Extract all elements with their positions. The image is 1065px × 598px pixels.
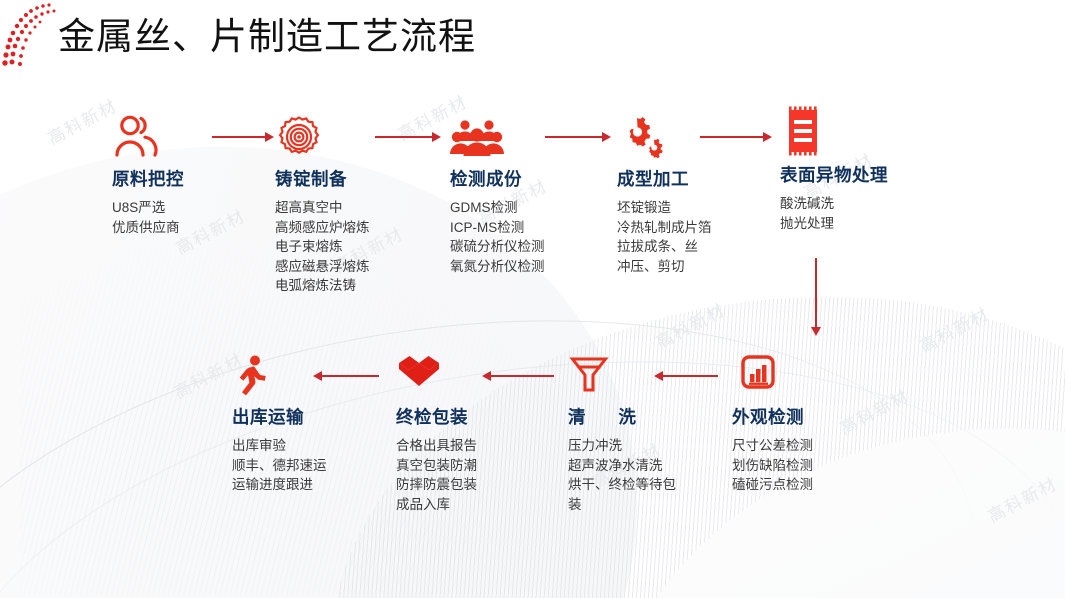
step-appearance-inspection[interactable]: 外观检测 尺寸公差检测 划伤缺陷检测 磕碰污点检测 <box>732 350 813 495</box>
arrow-step1-to-step2 <box>212 131 274 143</box>
step-detail-lines: U8S严选 优质供应商 <box>112 198 184 237</box>
arrow-step5-to-step6 <box>810 258 822 336</box>
step-composition-inspection[interactable]: 检测成份 GDMS检测 ICP-MS检测 碳硫分析仪检测 氧氮分析仪检测 <box>450 112 545 276</box>
background-arc-2 <box>0 286 1065 598</box>
step-detail-line: 电子束熔炼 <box>275 237 370 257</box>
arrow-step3-to-step4 <box>545 131 611 143</box>
step-title: 成型加工 <box>617 166 712 191</box>
step-detail-line: 顺丰、德邦速运 <box>232 456 327 476</box>
step-detail-lines: GDMS检测 ICP-MS检测 碳硫分析仪检测 氧氮分析仪检测 <box>450 198 545 276</box>
watermark: 高科新材 <box>835 382 914 440</box>
step-detail-lines: 压力冲洗 超声波净水清洗 烘干、终检等待包装 <box>568 436 676 514</box>
arrow-step7-to-step8 <box>482 370 554 382</box>
slide-canvas: 高科新材 高科新材 高科新材 高科新材 高科新材 高科新材 高科新材 高科新材 … <box>0 0 1065 598</box>
step-forming-processing[interactable]: 成型加工 坯锭锻造 冷热轧制成片箔 拉拔成条、丝 冲压、剪切 <box>617 112 712 276</box>
document-lines-icon <box>780 108 888 156</box>
step-detail-line: 电弧熔炼法铸 <box>275 276 370 296</box>
step-detail-lines: 尺寸公差检测 划伤缺陷检测 磕碰污点检测 <box>732 436 813 495</box>
arrow-step4-to-step5 <box>700 131 772 143</box>
watermark: 高科新材 <box>43 92 122 150</box>
step-detail-lines: 超高真空中 高频感应炉熔炼 电子束熔炼 感应磁悬浮熔炼 电弧熔炼法铸 <box>275 198 370 296</box>
running-person-icon <box>232 350 327 398</box>
step-title: 检测成份 <box>450 166 545 191</box>
step-detail-line: 压力冲洗 <box>568 436 676 456</box>
step-ingot-preparation[interactable]: 铸锭制备 超高真空中 高频感应炉熔炼 电子束熔炼 感应磁悬浮熔炼 电弧熔炼法铸 <box>275 112 370 296</box>
double-gear-icon <box>617 112 712 160</box>
step-raw-material-control[interactable]: 原料把控 U8S严选 优质供应商 <box>112 112 184 237</box>
step-detail-line: 尺寸公差检测 <box>732 436 813 456</box>
step-title: 表面异物处理 <box>780 162 888 187</box>
step-detail-line: 真空包装防潮 <box>396 456 477 476</box>
step-detail-lines: 合格出具报告 真空包装防潮 防摔防震包装 成品入库 <box>396 436 477 514</box>
funnel-icon <box>568 350 676 398</box>
step-detail-line: 氧氮分析仪检测 <box>450 257 545 277</box>
step-detail-line: 超高真空中 <box>275 198 370 218</box>
step-detail-line: 防摔防震包装 <box>396 475 477 495</box>
decorative-dot-arc-icon <box>2 2 64 66</box>
step-detail-line: 酸洗碱洗 <box>780 194 888 214</box>
step-detail-line: 坯锭锻造 <box>617 198 712 218</box>
background-decoration: 高科新材 高科新材 高科新材 高科新材 高科新材 高科新材 高科新材 高科新材 … <box>0 0 1065 598</box>
step-detail-line: 合格出具报告 <box>396 436 477 456</box>
step-detail-line: ICP-MS检测 <box>450 218 545 238</box>
two-people-icon <box>112 112 184 160</box>
step-detail-line: 磕碰污点检测 <box>732 475 813 495</box>
step-title: 外观检测 <box>732 404 813 429</box>
step-detail-lines: 出库审验 顺丰、德邦速运 运输进度跟进 <box>232 436 327 495</box>
watermark: 高科新材 <box>651 296 730 354</box>
step-surface-foreign-matter-treatment[interactable]: 表面异物处理 酸洗碱洗 抛光处理 <box>780 108 888 233</box>
step-final-inspection-packaging[interactable]: 终检包装 合格出具报告 真空包装防潮 防摔防震包装 成品入库 <box>396 350 477 514</box>
people-group-icon <box>450 112 545 160</box>
step-detail-line: 划伤缺陷检测 <box>732 456 813 476</box>
step-outbound-transport[interactable]: 出库运输 出库审验 顺丰、德邦速运 运输进度跟进 <box>232 350 327 495</box>
background-arc-1 <box>0 247 1017 598</box>
step-detail-line: 碳硫分析仪检测 <box>450 237 545 257</box>
step-detail-line: 出库审验 <box>232 436 327 456</box>
step-detail-line: U8S严选 <box>112 198 184 218</box>
step-detail-line: 冷热轧制成片箔 <box>617 218 712 238</box>
step-title: 出库运输 <box>232 404 327 429</box>
open-box-icon <box>396 350 477 398</box>
step-title: 终检包装 <box>396 404 477 429</box>
step-detail-lines: 坯锭锻造 冷热轧制成片箔 拉拔成条、丝 冲压、剪切 <box>617 198 712 276</box>
step-detail-lines: 酸洗碱洗 抛光处理 <box>780 194 888 233</box>
watermark: 高科新材 <box>915 300 994 358</box>
step-detail-line: 超声波净水清洗 <box>568 456 676 476</box>
arrow-step2-to-step3 <box>375 131 441 143</box>
page-title: 金属丝、片制造工艺流程 <box>58 6 476 60</box>
step-detail-line: 抛光处理 <box>780 214 888 234</box>
step-detail-line: GDMS检测 <box>450 198 545 218</box>
step-detail-line: 冲压、剪切 <box>617 257 712 277</box>
step-title: 铸锭制备 <box>275 166 370 191</box>
factory-badge-icon <box>732 350 813 398</box>
step-title: 清 洗 <box>568 404 676 429</box>
gear-rings-icon <box>275 112 370 160</box>
step-cleaning[interactable]: 清 洗 压力冲洗 超声波净水清洗 烘干、终检等待包装 <box>568 350 676 514</box>
step-detail-line: 拉拔成条、丝 <box>617 237 712 257</box>
step-detail-line: 感应磁悬浮熔炼 <box>275 257 370 277</box>
step-detail-line: 烘干、终检等待包装 <box>568 475 676 514</box>
step-detail-line: 成品入库 <box>396 495 477 515</box>
step-detail-line: 优质供应商 <box>112 218 184 238</box>
watermark: 高科新材 <box>983 470 1062 528</box>
step-title: 原料把控 <box>112 166 184 191</box>
step-detail-line: 运输进度跟进 <box>232 475 327 495</box>
step-detail-line: 高频感应炉熔炼 <box>275 218 370 238</box>
